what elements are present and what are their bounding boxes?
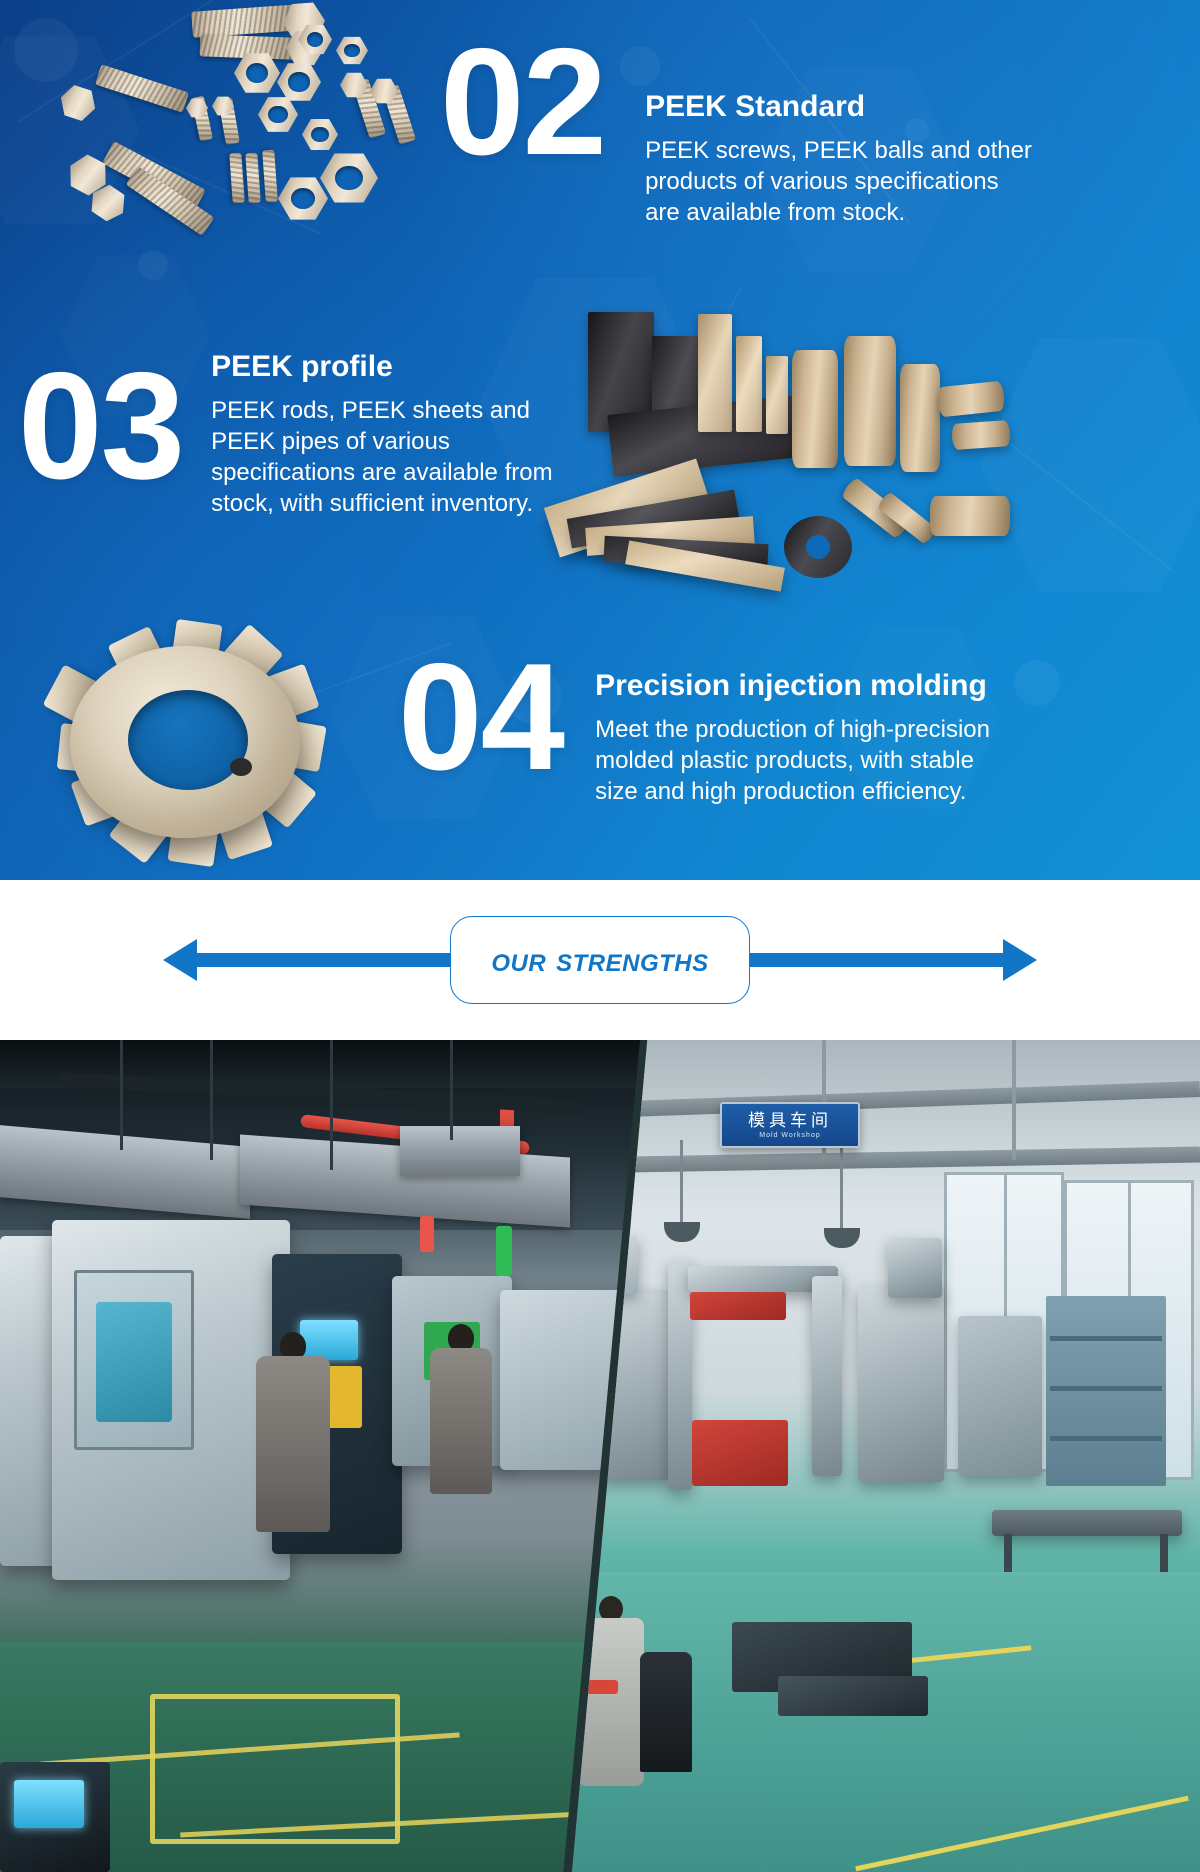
feature-number-03: 03 [18, 350, 183, 489]
our-strengths-label: Our strengths [491, 941, 708, 980]
feature-number-04: 04 [398, 655, 563, 780]
arrow-right-icon [750, 953, 1005, 967]
feature-body-02: PEEK screws, PEEK balls and other produc… [645, 135, 1035, 229]
photo-cnc-machining-workshop [0, 1040, 640, 1872]
feature-block-02: 02 PEEK Standard PEEK screws, PEEK balls… [440, 40, 1035, 228]
arrow-left-icon [195, 953, 450, 967]
photo-mold-workshop: 模具车间 Mold Workshop [572, 1040, 1200, 1872]
our-strengths-banner: Our strengths [0, 880, 1200, 1040]
sign-text-en: Mold Workshop [759, 1132, 821, 1139]
feature-block-04: 04 Precision injection molding Meet the … [398, 655, 1015, 807]
peek-profile-image [540, 300, 1010, 600]
feature-block-03: 03 PEEK profile PEEK rods, PEEK sheets a… [18, 350, 571, 519]
our-strengths-pill: Our strengths [450, 916, 750, 1004]
feature-body-03: PEEK rods, PEEK sheets and PEEK pipes of… [211, 395, 571, 520]
feature-title-04: Precision injection molding [595, 669, 1015, 704]
peek-screws-image [40, 0, 430, 265]
feature-title-03: PEEK profile [211, 350, 571, 385]
factory-photo-strip: 模具车间 Mold Workshop [0, 1040, 1200, 1872]
feature-number-02: 02 [440, 40, 605, 165]
mold-workshop-sign: 模具车间 Mold Workshop [720, 1102, 860, 1148]
feature-body-04: Meet the production of high-precision mo… [595, 714, 1015, 808]
hero-panel: 02 PEEK Standard PEEK screws, PEEK balls… [0, 0, 1200, 880]
feature-title-02: PEEK Standard [645, 90, 1035, 125]
peek-molded-gear-image [30, 618, 340, 868]
sign-text-cn: 模具车间 [748, 1112, 832, 1129]
